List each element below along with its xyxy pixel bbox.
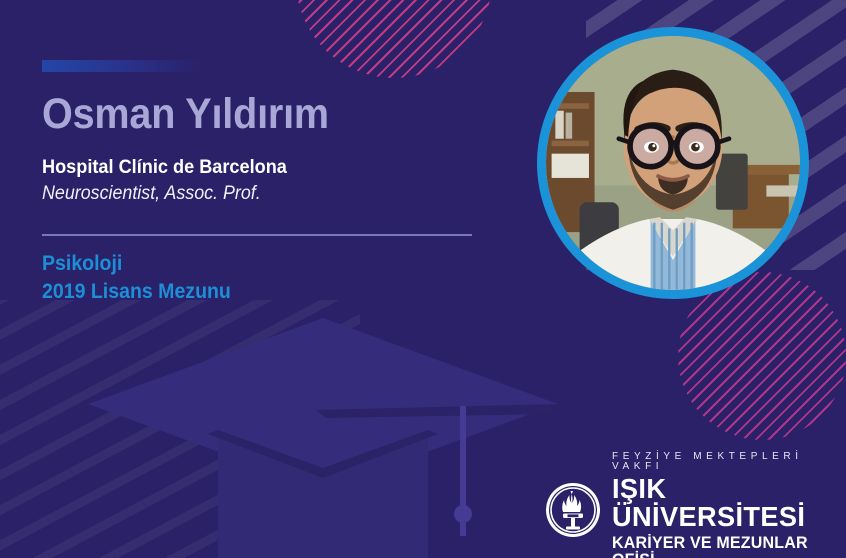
profile-text-block: Osman Yıldırım Hospital Clínic de Barcel… <box>42 92 502 205</box>
divider <box>42 234 472 236</box>
degree-block: Psikoloji 2019 Lisans Mezunu <box>42 250 245 306</box>
diagonal-stripes-icon <box>0 300 360 558</box>
graduation-cap-icon <box>88 318 558 558</box>
degree-year-text: 2019 Lisans Mezunu <box>42 278 231 306</box>
logo-main-title: IŞIK ÜNİVERSİTESİ <box>612 475 839 531</box>
pink-hatched-circle-icon <box>678 272 846 440</box>
page-title: Osman Yıldırım <box>42 92 465 137</box>
accent-bar <box>42 60 202 72</box>
logo-subtitle: KARİYER VE MEZUNLAR OFİSİ <box>612 535 839 558</box>
logo-text-group: FEYZİYE MEKTEPLERİ VAKFI IŞIK ÜNİVERSİTE… <box>612 452 846 558</box>
university-logo: FEYZİYE MEKTEPLERİ VAKFI IŞIK ÜNİVERSİTE… <box>545 452 846 558</box>
torch-flame-emblem-icon <box>545 482 601 538</box>
degree-program-text: Psikoloji <box>42 250 231 278</box>
affiliation-text: Hospital Clínic de Barcelona <box>42 156 470 179</box>
pink-hatched-circle-top-icon <box>296 0 492 78</box>
alumni-profile-card: Osman Yıldırım Hospital Clínic de Barcel… <box>0 0 846 558</box>
logo-kicker: FEYZİYE MEKTEPLERİ VAKFI <box>612 452 846 472</box>
role-text: Neuroscientist, Assoc. Prof. <box>42 183 474 205</box>
avatar <box>537 27 809 299</box>
